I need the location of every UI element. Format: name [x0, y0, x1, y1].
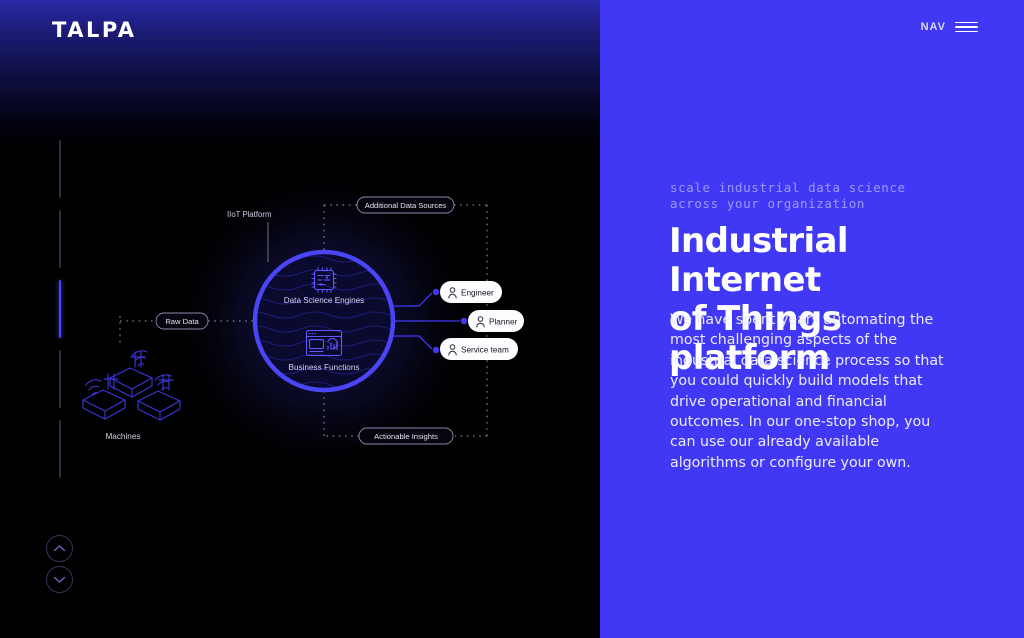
center-node-label: Data Science Engines	[284, 296, 365, 305]
left-visual-panel: TALPA	[0, 0, 600, 638]
hero-eyebrow: scale industrial data science across you…	[670, 180, 970, 212]
persona-pill-engineer[interactable]: Engineer	[440, 281, 502, 303]
persona-pill-planner[interactable]: Planner	[468, 310, 524, 332]
flow-pill-actionable-insights[interactable]: Actionable Insights	[359, 428, 453, 444]
persona-pill-service-team[interactable]: Service team	[440, 338, 518, 360]
iiot-architecture-diagram: Data Science Engines Business Functions	[0, 0, 600, 638]
hero-page: TALPA	[0, 0, 1024, 638]
center-node-label: Business Functions	[289, 363, 360, 372]
persona-label: Planner	[489, 318, 517, 327]
flow-pill-additional-data-sources[interactable]: Additional Data Sources	[357, 197, 454, 213]
machines-cluster	[83, 351, 180, 420]
iiot-platform-label: IIoT Platform	[227, 210, 272, 219]
machine-icon	[83, 374, 125, 419]
wifi-signal-icon	[132, 351, 147, 366]
persona-label: Service team	[461, 346, 509, 355]
persona-label: Engineer	[461, 289, 494, 298]
hamburger-menu-icon[interactable]	[955, 22, 978, 33]
machines-label: Machines	[105, 432, 140, 441]
flow-pill-label: Actionable Insights	[374, 432, 438, 441]
flow-pill-label: Additional Data Sources	[365, 201, 447, 210]
machine-icon	[110, 352, 152, 397]
nav-toggle[interactable]: NAV	[921, 21, 978, 33]
flow-pill-label: Raw Data	[165, 317, 199, 326]
hero-body-text: We have spent years automating the most …	[670, 310, 950, 473]
flow-pill-raw-data[interactable]: Raw Data	[156, 313, 208, 329]
nav-label: NAV	[921, 21, 946, 33]
